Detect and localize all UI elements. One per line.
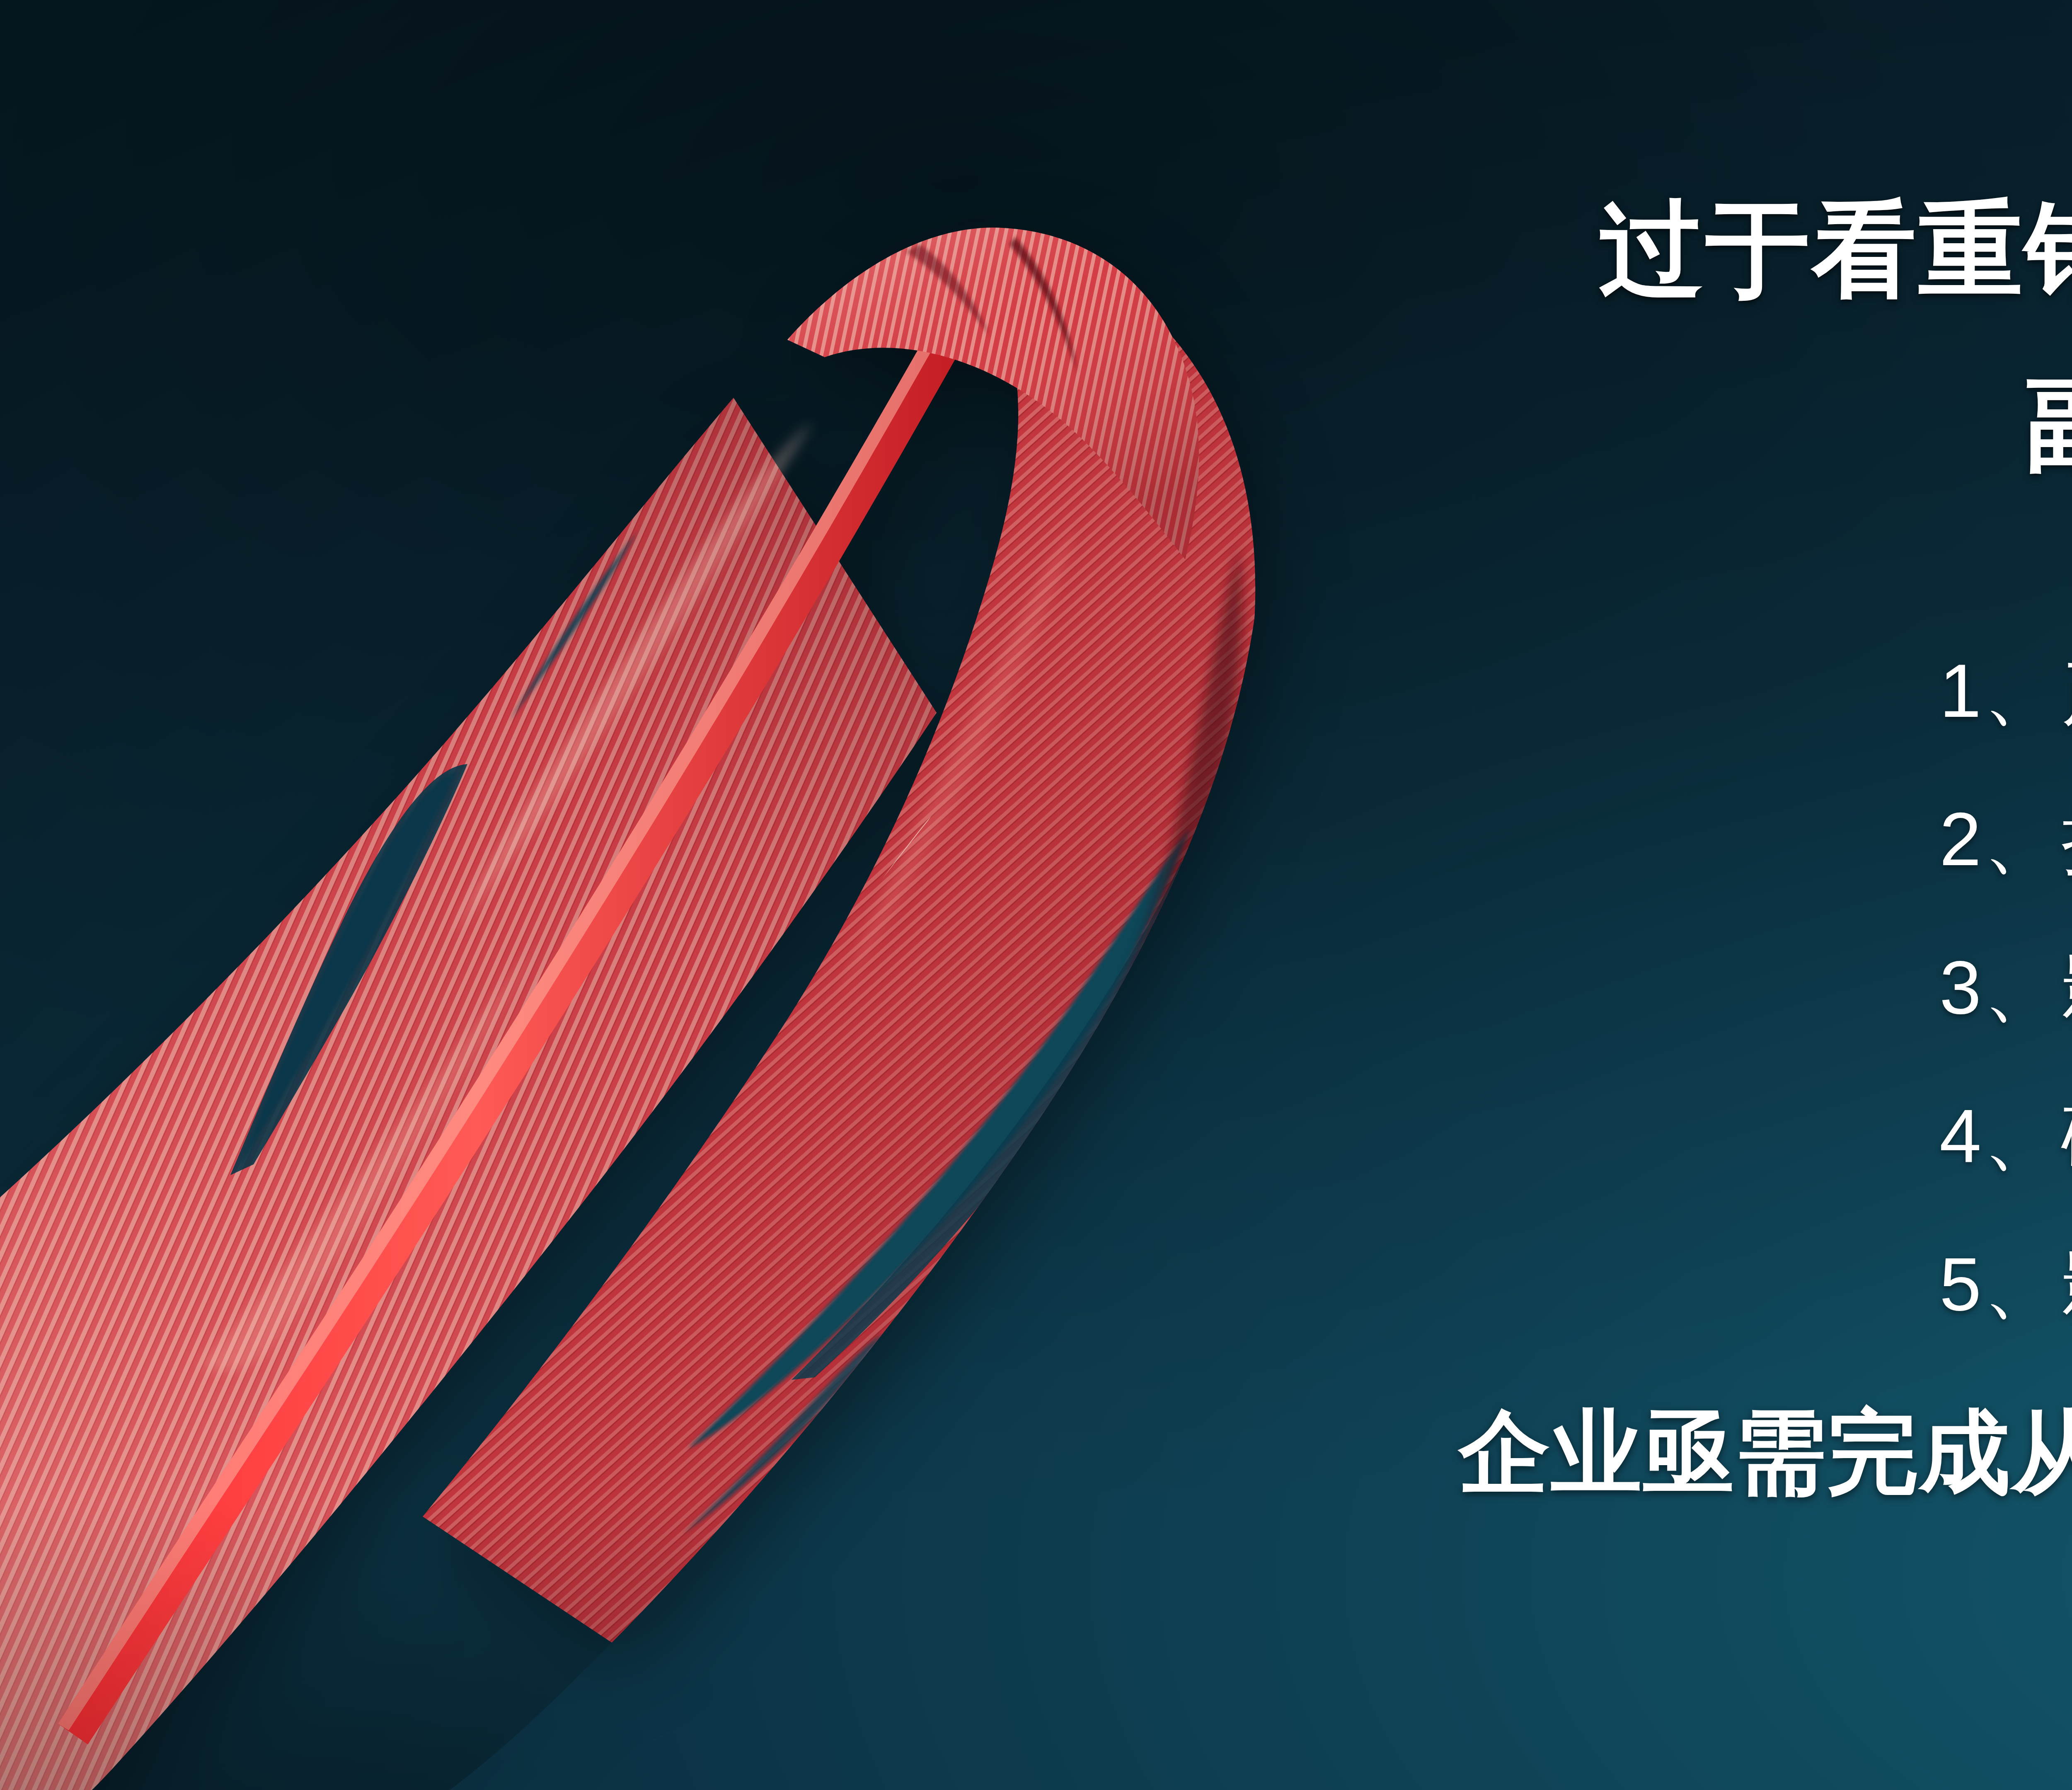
list-item: 4、破坏渠道平衡 <box>1401 1062 2072 1210</box>
list-item: 1、产品品质下降 <box>1401 617 2072 765</box>
slide-canvas: 过于看重销量而忽视品牌建设 副作用明显 1、产品品质下降 2、损害品牌形象 3、… <box>0 0 2072 1790</box>
list-item: 2、损害品牌形象 <box>1401 765 2072 913</box>
red-feather-illustration <box>0 50 1426 1790</box>
closing-main-text: 企业亟需完成从流量到品牌的 <box>1459 1401 2072 1503</box>
closing-statement: 企业亟需完成从流量到品牌的转化 <box>1401 1383 2072 1514</box>
headline-line-1: 过于看重销量而忽视品牌建设 <box>1401 187 2072 312</box>
list-item: 3、影响产品的延伸 <box>1401 913 2072 1062</box>
red-feather-image <box>0 50 1426 1790</box>
list-item: 5、影响员工的士气 <box>1401 1210 2072 1358</box>
feather-body <box>0 227 1426 1790</box>
bullet-list: 1、产品品质下降 2、损害品牌形象 3、影响产品的延伸 4、破坏渠道平衡 5、影… <box>1401 617 2072 1358</box>
headline-line-2: 副作用明显 <box>1401 361 2072 486</box>
slide-text-column: 过于看重销量而忽视品牌建设 副作用明显 1、产品品质下降 2、损害品牌形象 3、… <box>1401 0 2072 1790</box>
